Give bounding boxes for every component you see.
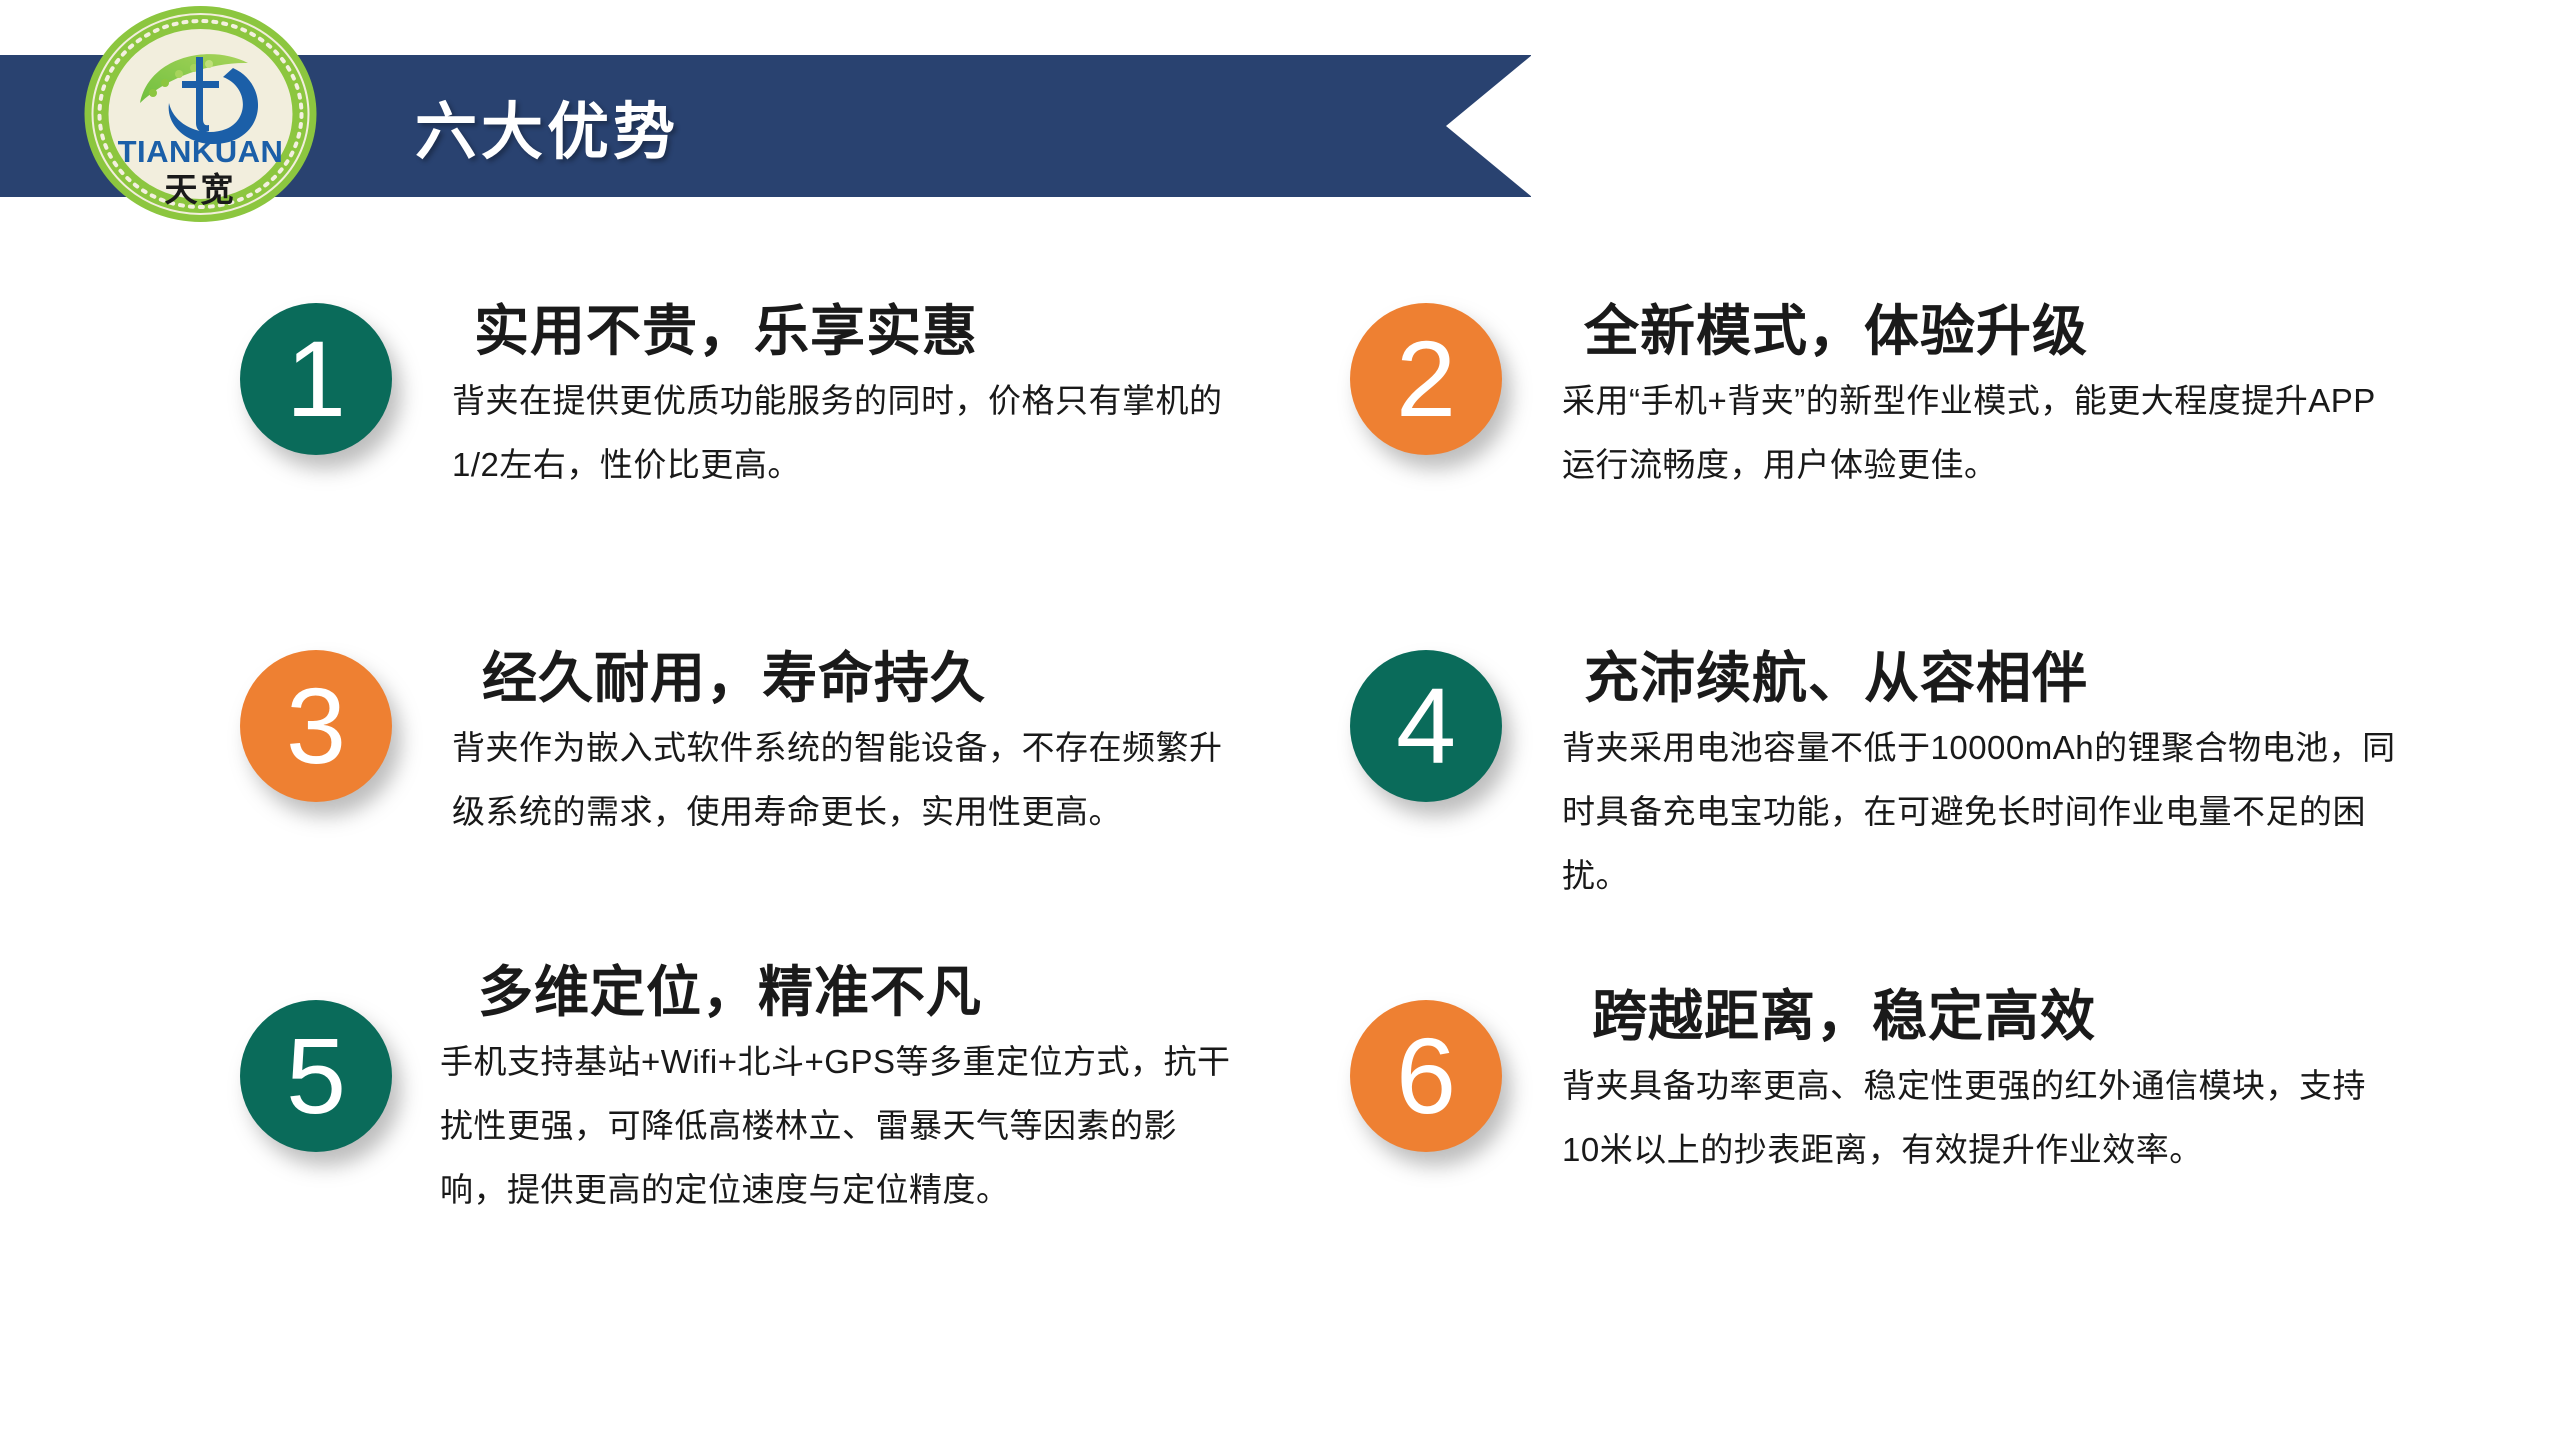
advantage-badge-6: 6 [1350,1000,1502,1152]
advantage-title-1: 实用不贵，乐享实惠 [452,301,1252,363]
advantage-badge-2: 2 [1350,303,1502,455]
advantage-title-2: 全新模式，体验升级 [1562,301,2382,363]
advantage-desc-1: 背夹在提供更优质功能服务的同时，价格只有掌机的1/2左右，性价比更高。 [452,369,1252,498]
advantage-desc-3: 背夹作为嵌入式软件系统的智能设备，不存在频繁升级系统的需求，使用寿命更长，实用性… [452,716,1252,845]
advantage-body-6: 跨越距离，稳定高效 背夹具备功率更高、稳定性更强的红外通信模块，支持10米以上的… [1562,986,2382,1182]
advantage-body-4: 充沛续航、从容相伴 背夹采用电池容量不低于10000mAh的锂聚合物电池，同时具… [1562,648,2402,909]
advantage-title-4: 充沛续航、从容相伴 [1562,648,2402,710]
advantage-body-3: 经久耐用，寿命持久 背夹作为嵌入式软件系统的智能设备，不存在频繁升级系统的需求，… [452,648,1252,844]
advantage-desc-2: 采用“手机+背夹”的新型作业模式，能更大程度提升APP运行流畅度，用户体验更佳。 [1562,369,2382,498]
advantage-desc-5: 手机支持基站+Wifi+北斗+GPS等多重定位方式，抗干扰性更强，可降低高楼林立… [440,1030,1240,1223]
advantage-badge-4: 4 [1350,650,1502,802]
advantage-desc-6: 背夹具备功率更高、稳定性更强的红外通信模块，支持10米以上的抄表距离，有效提升作… [1562,1054,2382,1183]
advantage-body-5: 多维定位，精准不凡 手机支持基站+Wifi+北斗+GPS等多重定位方式，抗干扰性… [440,962,1240,1223]
advantage-desc-4: 背夹采用电池容量不低于10000mAh的锂聚合物电池，同时具备充电宝功能，在可避… [1562,716,2402,909]
svg-text:天宽: 天宽 [165,171,237,208]
tiankuan-logo: TIANKUAN 天宽 [83,5,318,223]
advantage-title-3: 经久耐用，寿命持久 [452,648,1252,710]
page-title: 六大优势 [415,55,679,197]
advantage-badge-5: 5 [240,1000,392,1152]
svg-text:TIANKUAN: TIANKUAN [118,134,284,169]
slide-canvas: 六大优势 TIANKUAN 天宽 [0,0,2560,1440]
advantage-body-1: 实用不贵，乐享实惠 背夹在提供更优质功能服务的同时，价格只有掌机的1/2左右，性… [452,301,1252,497]
advantage-badge-1: 1 [240,303,392,455]
advantage-badge-3: 3 [240,650,392,802]
advantage-title-6: 跨越距离，稳定高效 [1562,986,2382,1048]
advantage-title-5: 多维定位，精准不凡 [440,962,1240,1024]
advantage-body-2: 全新模式，体验升级 采用“手机+背夹”的新型作业模式，能更大程度提升APP运行流… [1562,301,2382,497]
